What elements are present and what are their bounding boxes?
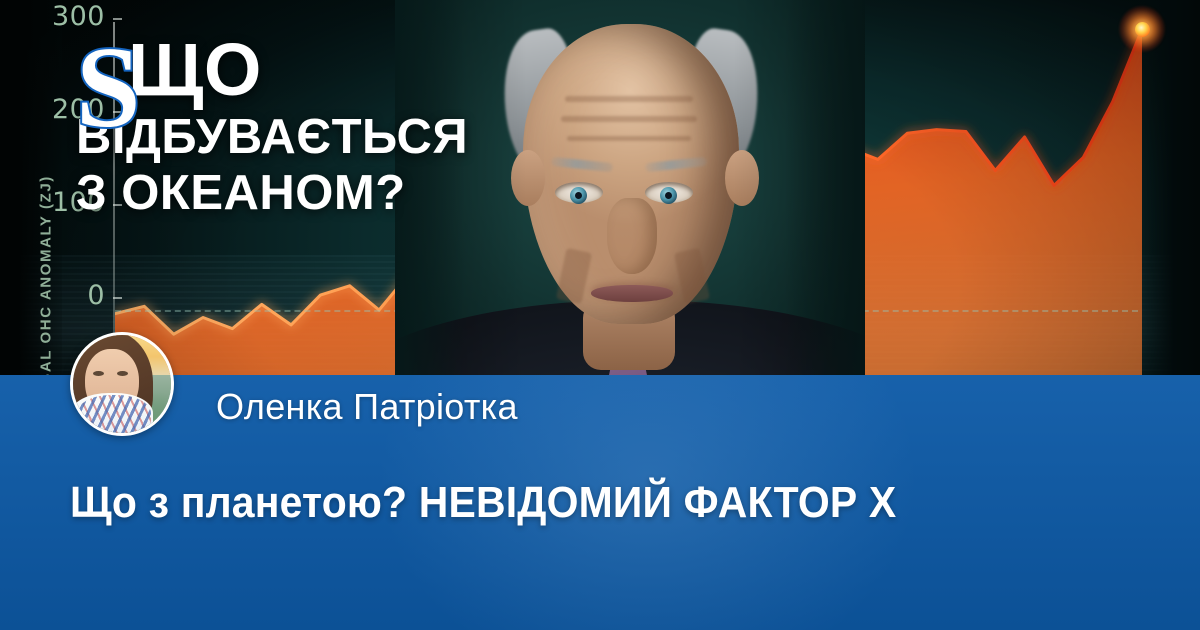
y-tick-mark [113, 297, 122, 299]
title-overlay: S ЩО ВІДБУВАЄТЬСЯ З ОКЕАНОМ? [76, 34, 468, 218]
channel-name[interactable]: Оленка Патріотка [216, 386, 518, 428]
avatar[interactable] [70, 332, 174, 436]
right-edge-shade [1142, 0, 1200, 380]
channel-logo-s: S [76, 30, 141, 146]
headline: Що з планетою? НЕВІДОМИЙ ФАКТОР X [70, 478, 896, 528]
y-tick-label: 0 [87, 280, 105, 311]
thumbnail-canvas: 3002001000-100-200-300 1955196020202025 … [0, 0, 1200, 630]
endpoint-glow-dot [1135, 22, 1150, 37]
y-tick-mark [113, 18, 122, 20]
title-line-3: З ОКЕАНОМ? [76, 170, 468, 218]
